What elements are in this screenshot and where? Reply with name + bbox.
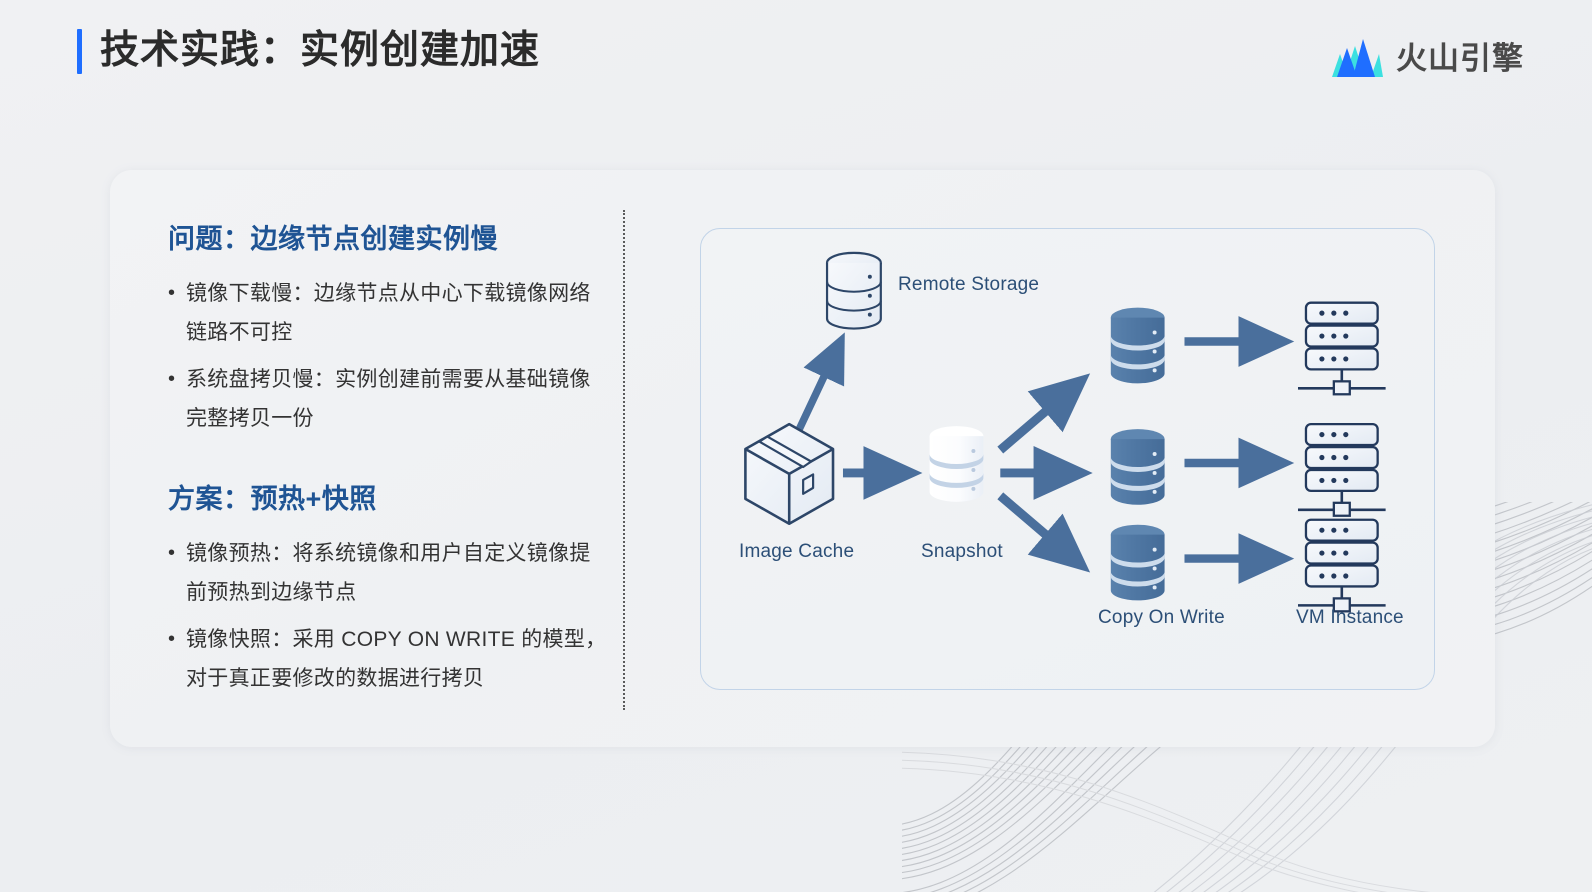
bullet-text: 镜像下载慢：边缘节点从中心下载镜像网络链路不可控 — [186, 274, 608, 352]
architecture-diagram: Remote Storage Image Cache Snapshot Copy… — [700, 228, 1435, 690]
bullet-text: 镜像快照：采用 COPY ON WRITE 的模型，对于真正要修改的数据进行拷贝 — [186, 620, 608, 698]
column-divider — [623, 210, 625, 710]
node-label-image-cache: Image Cache — [739, 541, 854, 563]
page-title: 技术实践：实例创建加速 — [100, 26, 540, 76]
database-cylinder-outline-icon — [827, 253, 881, 329]
bullet-text: 镜像预热：将系统镜像和用户自定义镜像提前预热到边缘节点 — [186, 534, 608, 612]
node-label-vm-instance: VM Instance — [1296, 607, 1404, 629]
section-heading-problem: 问题：边缘节点创建实例慢 — [168, 222, 608, 256]
node-label-copy-on-write: Copy On Write — [1098, 607, 1225, 629]
bullet-marker: • — [168, 360, 186, 399]
brand-name: 火山引擎 — [1396, 33, 1524, 78]
title-accent-bar — [77, 29, 82, 74]
list-item: • 镜像快照：采用 COPY ON WRITE 的模型，对于真正要修改的数据进行… — [168, 620, 608, 698]
list-item: • 系统盘拷贝慢：实例创建前需要从基础镜像完整拷贝一份 — [168, 360, 608, 438]
edge-snapshot-cow-top — [1000, 380, 1082, 450]
server-rack-icon — [1298, 424, 1386, 516]
bullet-marker: • — [168, 620, 186, 659]
package-box-icon — [745, 424, 833, 524]
bullet-marker: • — [168, 534, 186, 573]
brand-logo: 火山引擎 — [1329, 30, 1524, 80]
slide-header: 技术实践：实例创建加速 火山引擎 — [0, 0, 1592, 118]
content-card: 问题：边缘节点创建实例慢 • 镜像下载慢：边缘节点从中心下载镜像网络链路不可控 … — [110, 170, 1495, 747]
server-rack-icon — [1298, 520, 1386, 612]
database-cylinder-light-icon — [930, 426, 984, 502]
volcano-mountain-icon — [1329, 30, 1383, 80]
edge-snapshot-cow-bottom — [1000, 496, 1082, 566]
list-item: • 镜像下载慢：边缘节点从中心下载镜像网络链路不可控 — [168, 274, 608, 352]
list-item: • 镜像预热：将系统镜像和用户自定义镜像提前预热到边缘节点 — [168, 534, 608, 612]
bullet-marker: • — [168, 274, 186, 313]
node-label-remote-storage: Remote Storage — [898, 274, 1039, 296]
database-cylinder-filled-icon — [1111, 308, 1165, 384]
slide-root: 技术实践：实例创建加速 火山引擎 问题：边缘节点创建实例慢 • 镜像下载慢：边缘… — [0, 0, 1592, 892]
text-column: 问题：边缘节点创建实例慢 • 镜像下载慢：边缘节点从中心下载镜像网络链路不可控 … — [168, 222, 608, 706]
database-cylinder-filled-icon — [1111, 525, 1165, 601]
database-cylinder-filled-icon — [1111, 429, 1165, 505]
section-heading-solution: 方案：预热+快照 — [168, 482, 608, 516]
bullet-text: 系统盘拷贝慢：实例创建前需要从基础镜像完整拷贝一份 — [186, 360, 608, 438]
node-label-snapshot: Snapshot — [921, 541, 1003, 563]
server-rack-icon — [1298, 303, 1386, 395]
